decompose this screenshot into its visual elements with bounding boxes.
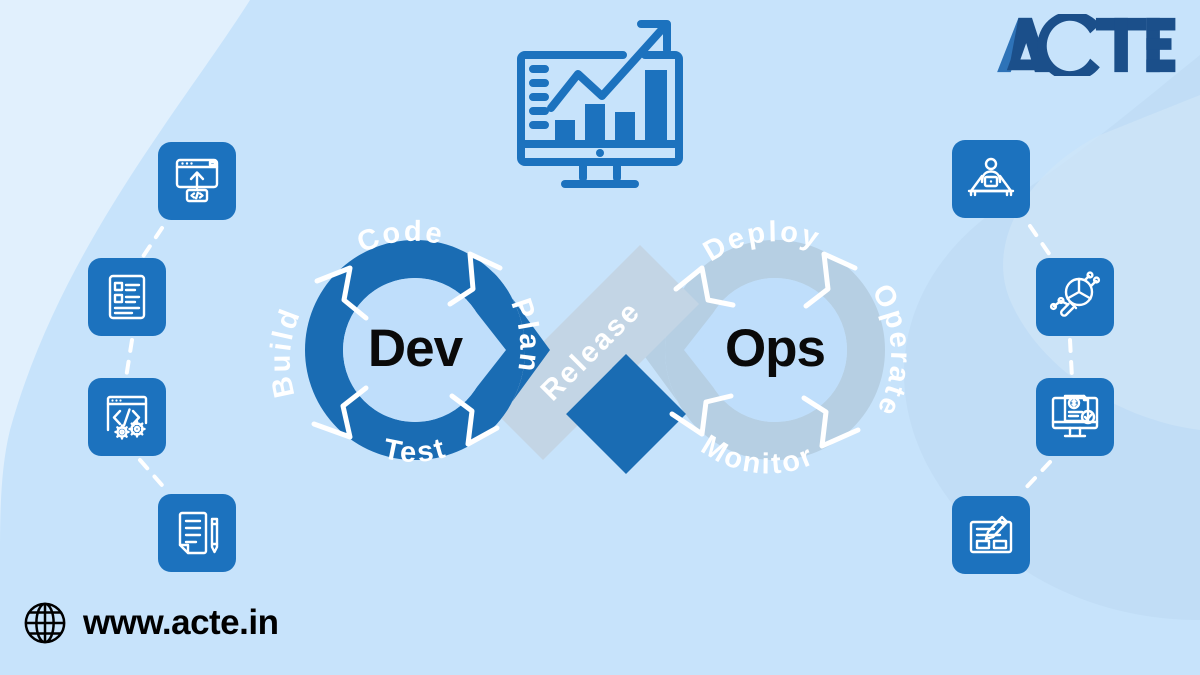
web-upload-code-icon-tile[interactable] bbox=[158, 142, 236, 220]
person-desk-laptop-icon-tile[interactable] bbox=[952, 140, 1030, 218]
magnifier-piechart-icon bbox=[1048, 270, 1102, 324]
dev-center-label: Dev bbox=[315, 322, 515, 375]
code-gears-icon bbox=[100, 390, 154, 444]
website-url: www.acte.in bbox=[83, 603, 278, 643]
invoice-monitor-check-icon-tile[interactable] bbox=[1036, 378, 1114, 456]
infographic-canvas: Code Plan Test Build Deploy Operate Moni… bbox=[0, 0, 1200, 675]
checklist-document-icon bbox=[100, 270, 154, 324]
magnifier-piechart-icon-tile[interactable] bbox=[1036, 258, 1114, 336]
footer-website[interactable]: www.acte.in bbox=[22, 600, 278, 646]
document-pencil-icon-tile[interactable] bbox=[158, 494, 236, 572]
checklist-document-icon-tile[interactable] bbox=[88, 258, 166, 336]
web-upload-code-icon bbox=[170, 154, 224, 208]
document-pencil-icon bbox=[170, 506, 224, 560]
invoice-monitor-check-icon bbox=[1048, 390, 1102, 444]
ops-center-label: Ops bbox=[675, 322, 875, 375]
globe-icon bbox=[22, 600, 68, 646]
dev-stage-label-build: Build bbox=[265, 303, 308, 400]
dev-stage-label-test: Test bbox=[381, 432, 451, 469]
person-desk-laptop-icon bbox=[964, 152, 1018, 206]
form-layout-pencil-icon bbox=[964, 508, 1018, 562]
devops-loop-diagram: Code Plan Test Build Deploy Operate Moni… bbox=[0, 0, 1200, 675]
code-gears-icon-tile[interactable] bbox=[88, 378, 166, 456]
form-layout-pencil-icon-tile[interactable] bbox=[952, 496, 1030, 574]
